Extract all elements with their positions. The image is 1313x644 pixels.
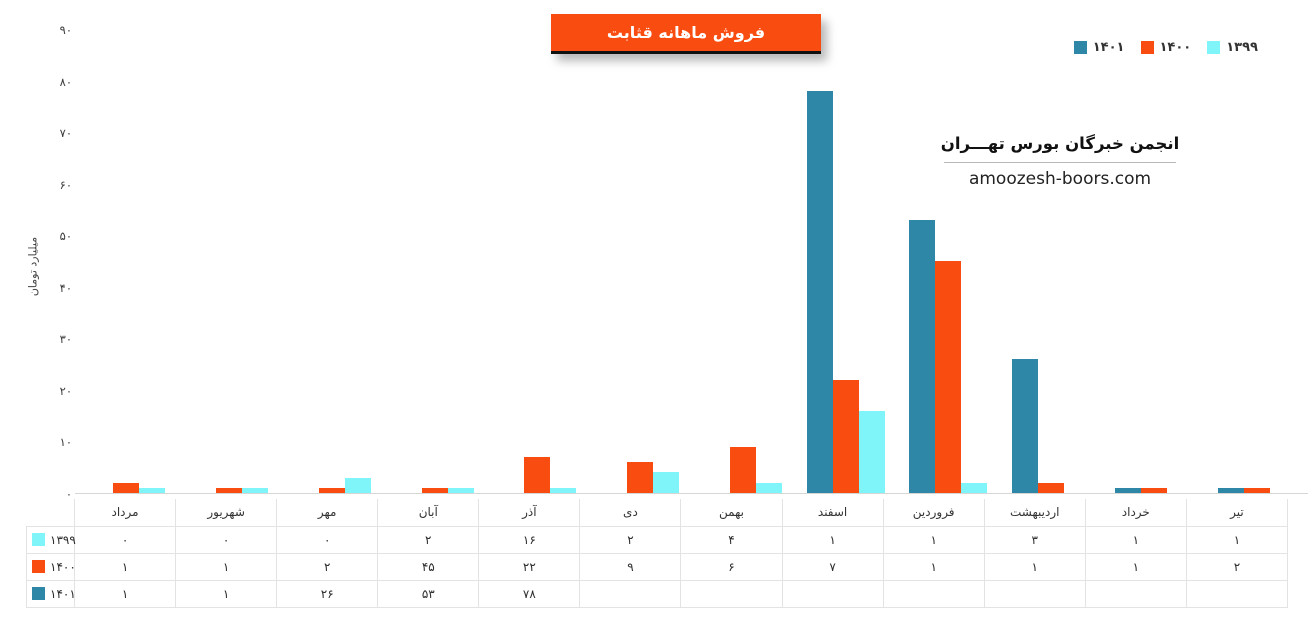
table-cell: ۲ (580, 526, 681, 553)
series-swatch-icon (32, 560, 45, 573)
table-series-label: ۱۳۹۹ (27, 526, 75, 553)
bar[interactable] (935, 261, 961, 493)
table-cell: ۱ (1085, 526, 1186, 553)
table-row: ۱۴۰۰۱۱۲۴۵۲۲۹۶۷۱۱۱۲ (27, 553, 1288, 580)
table-corner (27, 499, 75, 526)
table-cell: ۰ (75, 526, 176, 553)
table-cell: ۱ (176, 580, 277, 607)
table-cell (984, 580, 1085, 607)
bar[interactable] (1141, 488, 1167, 493)
y-axis-tick-label: ۶۰ (60, 178, 72, 192)
bar[interactable] (1115, 488, 1141, 493)
data-table: مردادشهریورمهرآبانآذردیبهمناسفندفروردینا… (26, 499, 1288, 608)
table-cell (782, 580, 883, 607)
y-axis-ticks: ۰۱۰۲۰۳۰۴۰۵۰۶۰۷۰۸۰۹۰ (30, 30, 72, 494)
table-cell: ۱ (75, 553, 176, 580)
bar-group (692, 30, 795, 493)
bar-group (589, 30, 692, 493)
table-column-header: شهریور (176, 499, 277, 526)
bar[interactable] (1012, 359, 1038, 493)
table-column-header: تیر (1186, 499, 1287, 526)
table-body: ۱۳۹۹۰۰۰۲۱۶۲۴۱۱۳۱۱۱۴۰۰۱۱۲۴۵۲۲۹۶۷۱۱۱۲۱۴۰۱۱… (27, 526, 1288, 607)
bar-group (281, 30, 384, 493)
table-cell (883, 580, 984, 607)
bar[interactable] (139, 488, 165, 493)
plot-area: میلیارد تومان ۰۱۰۲۰۳۰۴۰۵۰۶۰۷۰۸۰۹۰ (0, 30, 1313, 500)
table-column-header: آبان (378, 499, 479, 526)
table-cell: ۹ (580, 553, 681, 580)
table-cell: ۷ (782, 553, 883, 580)
y-axis-tick-label: ۲۰ (60, 384, 72, 398)
y-axis-tick-label: ۹۰ (60, 23, 72, 37)
bar-group (1103, 30, 1206, 493)
bar[interactable] (653, 472, 679, 493)
bar-group (178, 30, 281, 493)
bar[interactable] (756, 483, 782, 493)
bar-group (383, 30, 486, 493)
table-series-label: ۱۴۰۱ (27, 580, 75, 607)
y-axis-tick-label: ۴۰ (60, 281, 72, 295)
table-column-header: دی (580, 499, 681, 526)
bar-group (1205, 30, 1308, 493)
bar[interactable] (422, 488, 448, 493)
table-cell: ۱ (984, 553, 1085, 580)
table-column-header: اسفند (782, 499, 883, 526)
bar[interactable] (833, 380, 859, 493)
bar-group (1000, 30, 1103, 493)
table-cell: ۴ (681, 526, 782, 553)
table-column-header: مهر (277, 499, 378, 526)
series-swatch-icon (32, 533, 45, 546)
bar-group (486, 30, 589, 493)
bar[interactable] (550, 488, 576, 493)
table-series-label: ۱۴۰۰ (27, 553, 75, 580)
bar[interactable] (807, 91, 833, 493)
table-cell: ۱ (176, 553, 277, 580)
y-axis-tick-label: ۸۰ (60, 75, 72, 89)
table-cell: ۱ (75, 580, 176, 607)
table-row: ۱۳۹۹۰۰۰۲۱۶۲۴۱۱۳۱۱ (27, 526, 1288, 553)
bar[interactable] (524, 457, 550, 493)
series-name: ۱۴۰۰ (50, 560, 76, 574)
bar[interactable] (319, 488, 345, 493)
table-column-header: خرداد (1085, 499, 1186, 526)
table-cell: ۱۶ (479, 526, 580, 553)
y-axis-tick-label: ۷۰ (60, 126, 72, 140)
series-name: ۱۴۰۱ (50, 587, 76, 601)
bar-group (897, 30, 1000, 493)
bar[interactable] (627, 462, 653, 493)
table-cell: ۱ (883, 553, 984, 580)
bar-group (794, 30, 897, 493)
bar[interactable] (730, 447, 756, 493)
table-cell: ۳ (984, 526, 1085, 553)
table-cell: ۲ (277, 553, 378, 580)
bar[interactable] (961, 483, 987, 493)
y-axis-tick-label: ۵۰ (60, 229, 72, 243)
y-axis-tick-label: ۱۰ (60, 435, 72, 449)
bar[interactable] (909, 220, 935, 493)
y-axis-tick-label: ۳۰ (60, 332, 72, 346)
table-column-header: مرداد (75, 499, 176, 526)
table-column-header: فروردین (883, 499, 984, 526)
table-cell: ۱ (1186, 526, 1287, 553)
chart-page: فروش ماهانه قثابت ۱۳۹۹۱۴۰۰۱۴۰۱ انجمن خبر… (0, 0, 1313, 644)
table-cell (1186, 580, 1287, 607)
table-cell: ۲۲ (479, 553, 580, 580)
table-cell: ۶ (681, 553, 782, 580)
series-name: ۱۳۹۹ (50, 533, 76, 547)
table-cell: ۰ (176, 526, 277, 553)
bar[interactable] (113, 483, 139, 493)
table-cell: ۱ (1085, 553, 1186, 580)
bar[interactable] (448, 488, 474, 493)
bar[interactable] (1244, 488, 1270, 493)
table-cell: ۷۸ (479, 580, 580, 607)
bar-group (75, 30, 178, 493)
table-row: ۱۴۰۱۱۱۲۶۵۳۷۸ (27, 580, 1288, 607)
table-column-header: اردیبهشت (984, 499, 1085, 526)
table-cell: ۴۵ (378, 553, 479, 580)
bar[interactable] (216, 488, 242, 493)
bars-container (75, 30, 1308, 494)
table-column-header: آذر (479, 499, 580, 526)
table-cell: ۵۳ (378, 580, 479, 607)
table-column-header: بهمن (681, 499, 782, 526)
series-swatch-icon (32, 587, 45, 600)
bar[interactable] (1218, 488, 1244, 493)
table-cell: ۲ (378, 526, 479, 553)
table-cell: ۱ (883, 526, 984, 553)
bar[interactable] (1038, 483, 1064, 493)
table-cell: ۰ (277, 526, 378, 553)
bar[interactable] (242, 488, 268, 493)
table-header-row: مردادشهریورمهرآبانآذردیبهمناسفندفروردینا… (27, 499, 1288, 526)
table-cell (1085, 580, 1186, 607)
table-cell: ۲ (1186, 553, 1287, 580)
table-cell: ۱ (782, 526, 883, 553)
bar[interactable] (345, 478, 371, 493)
table-cell (580, 580, 681, 607)
table-cell (681, 580, 782, 607)
table-cell: ۲۶ (277, 580, 378, 607)
bar[interactable] (859, 411, 885, 493)
